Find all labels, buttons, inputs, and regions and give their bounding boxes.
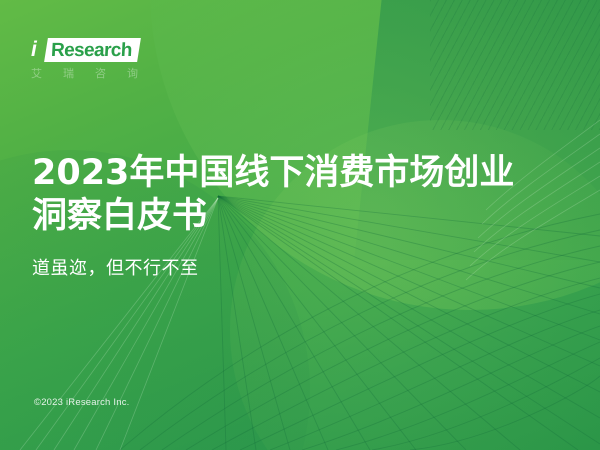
copyright-footer: ©2023 iResearch Inc. <box>34 397 130 408</box>
logo-wordmark: Research <box>50 40 132 61</box>
page-title-line-1: 2023年中国线下消费市场创业 <box>32 152 562 195</box>
page-title-line-2: 洞察白皮书 <box>32 195 562 238</box>
logo-chinese-wordmark: 艾 瑞 咨 询 <box>31 65 139 81</box>
title-block: 2023年中国线下消费市场创业 洞察白皮书 道虽迩，但不行不至 <box>32 152 562 282</box>
logo-initial: i <box>31 39 36 61</box>
logo-mark: i Research <box>31 38 139 63</box>
report-cover-page: i Research 艾 瑞 咨 询 2023年中国线下消费市场创业 洞察白皮书… <box>0 0 600 450</box>
logo-chinese-char-1: 艾 <box>31 65 43 81</box>
diagonal-hatch-pattern <box>430 0 600 130</box>
logo-chinese-char-4: 询 <box>127 65 139 81</box>
logo-chinese-char-2: 瑞 <box>63 65 75 81</box>
iresearch-logo: i Research 艾 瑞 咨 询 <box>31 38 143 82</box>
logo-chinese-char-3: 咨 <box>95 65 107 81</box>
page-subtitle: 道虽迩，但不行不至 <box>32 256 562 282</box>
